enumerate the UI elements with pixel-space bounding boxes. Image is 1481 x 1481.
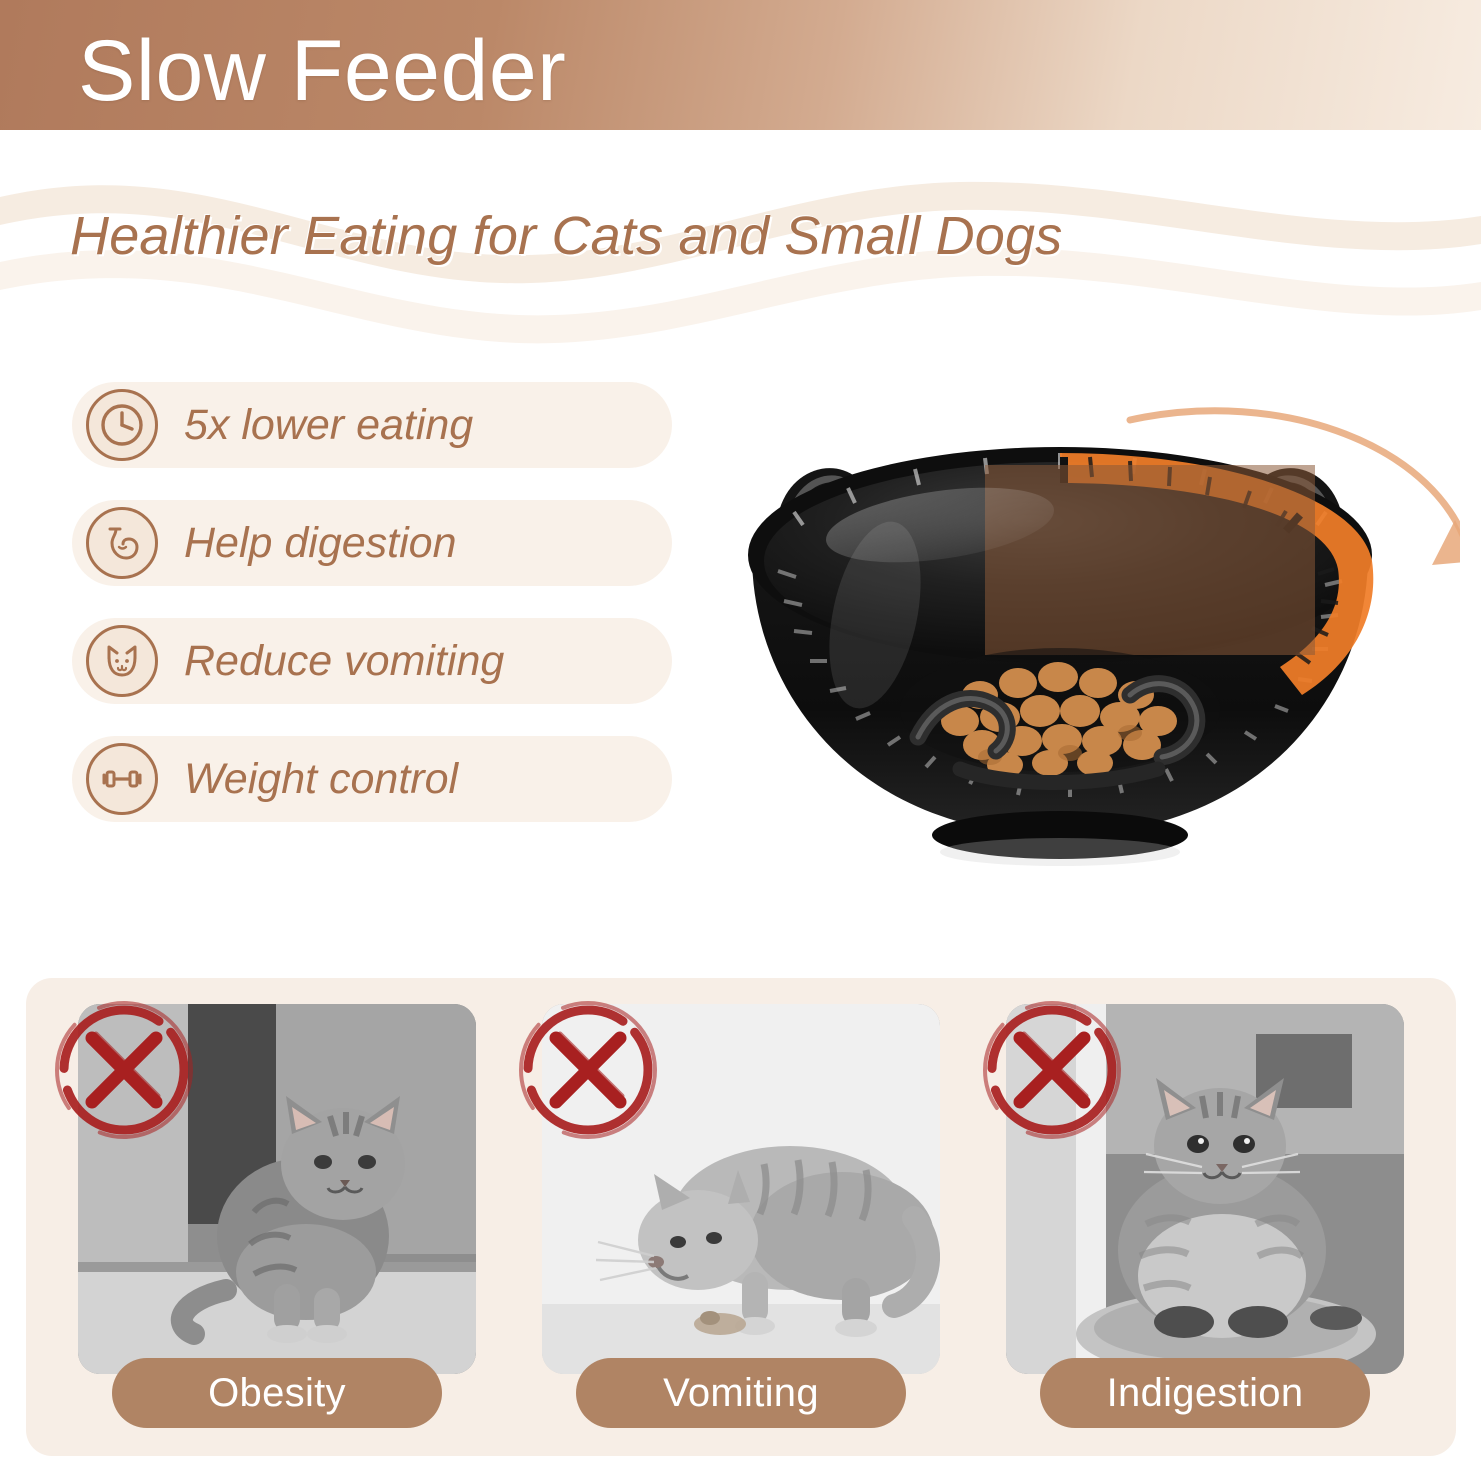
problem-caption: Vomiting xyxy=(576,1358,906,1428)
stomach-icon xyxy=(86,507,158,579)
problem-card-list: Obesity xyxy=(26,978,1456,1456)
cat-face-icon xyxy=(86,625,158,697)
problem-caption: Indigestion xyxy=(1040,1358,1370,1428)
feature-list: 5x lower eating Help digestion xyxy=(72,382,672,854)
red-x-icon xyxy=(46,992,202,1148)
page-title: Slow Feeder xyxy=(78,28,566,114)
problem-card: Indigestion xyxy=(1006,1004,1404,1430)
page-subtitle: Healthier Eating for Cats and Small Dogs xyxy=(70,205,1062,267)
infographic-page: Slow Feeder Healthier Eating for Cats an… xyxy=(0,0,1481,1481)
feature-item-vomiting: Reduce vomiting xyxy=(72,618,672,704)
feature-label: 5x lower eating xyxy=(184,401,473,450)
red-x-icon xyxy=(510,992,666,1148)
product-photo-slow-feeder-bowl xyxy=(660,365,1460,925)
problem-card: Obesity xyxy=(78,1004,476,1430)
dumbbell-icon xyxy=(86,743,158,815)
problem-caption: Obesity xyxy=(112,1358,442,1428)
red-x-icon xyxy=(974,992,1130,1148)
feature-label: Weight control xyxy=(184,755,458,804)
feature-item-digestion: Help digestion xyxy=(72,500,672,586)
feature-label: Reduce vomiting xyxy=(184,637,504,686)
feature-item-weight: Weight control xyxy=(72,736,672,822)
feature-item-eating-speed: 5x lower eating xyxy=(72,382,672,468)
problem-card: Vomiting xyxy=(542,1004,940,1430)
feature-label: Help digestion xyxy=(184,519,457,568)
clock-icon xyxy=(86,389,158,461)
